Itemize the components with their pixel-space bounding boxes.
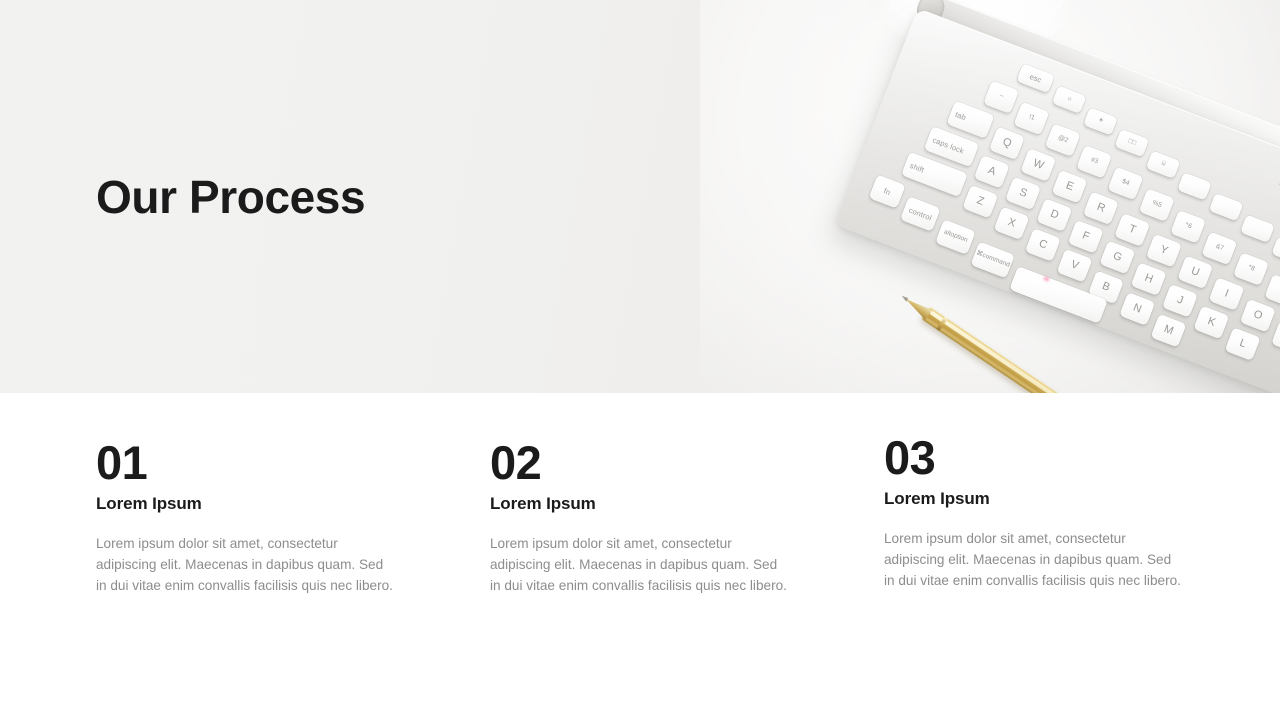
keyboard-key: C [1025,228,1061,262]
keyboard-key: J [1162,284,1198,318]
keyboard-key: F [1068,220,1104,254]
keyboard-key: S [1005,177,1041,211]
step-subtitle: Lorem Ipsum [490,494,820,514]
process-step-01: 01 Lorem Ipsum Lorem ipsum dolor sit ame… [96,439,426,596]
keyboard-key: H [1131,262,1167,296]
keyboard-key: Y [1146,234,1182,268]
keyboard-key: I [1208,277,1244,311]
keyboard-key: A [974,155,1010,189]
page-title: Our Process [96,172,365,224]
keyboard-key: altoption [935,219,976,255]
step-number: 01 [96,439,426,486]
keyboard-key: P [1271,321,1280,355]
keyboard-key: @2 [1045,123,1081,157]
keyboard-key [1209,193,1244,221]
keyboard-key: T [1114,213,1150,247]
keyboard-key: D [1036,198,1072,232]
keyboard-key: $4 [1107,167,1143,201]
keyboard-key: ⌸ [1146,151,1181,179]
keyboard-key: Z [962,185,998,219]
process-step-03: 03 Lorem Ipsum Lorem ipsum dolor sit ame… [884,434,1214,591]
keyboard-key [1271,236,1280,264]
step-body: Lorem ipsum dolor sit amet, consectetur … [884,529,1184,591]
keyboard-key: U [1177,256,1213,290]
keyboard-key: V [1057,249,1093,283]
step-subtitle: Lorem Ipsum [96,494,426,514]
keyboard-key: O [1240,299,1276,333]
keyboard-key [1009,266,1108,324]
keyboard-key: R [1083,191,1119,225]
keyboard-key: (9 [1264,274,1280,308]
keyboard-key: !1 [1013,102,1049,136]
keyboard-key: M [1150,314,1186,348]
keyboard-key: ⌘command [970,242,1014,279]
keyboard-key: K [1193,306,1229,340]
keyboard-key: X [994,206,1030,240]
step-subtitle: Lorem Ipsum [884,489,1214,509]
step-number: 03 [884,434,1214,481]
keyboard-key: □□ [1114,129,1149,157]
keyboard-key: control [900,196,941,232]
keyboard-key: G [1099,241,1135,275]
keyboard-key: N [1119,292,1155,326]
keyboard-key: *8 [1233,252,1269,286]
keyboard-key: W [1020,148,1056,182]
keyboard-key: %5 [1139,188,1175,222]
keyboard-key: ☼ [1052,86,1087,114]
keyboard-key: Q [989,126,1025,160]
keyboard-key [1240,215,1275,243]
keyboard-key: &7 [1201,232,1237,266]
process-steps: 01 Lorem Ipsum Lorem ipsum dolor sit ame… [0,393,1280,720]
keyboard-key: ~ [983,80,1019,114]
process-step-02: 02 Lorem Ipsum Lorem ipsum dolor sit ame… [490,439,820,596]
step-body: Lorem ipsum dolor sit amet, consectetur … [96,534,396,596]
slide-our-process: esc☼☀□□⌸~!1@2#3$4%5^6&7*8(9)0tabQWERTYUI… [0,0,1280,720]
keyboard-key: E [1052,170,1088,204]
keyboard-key [1177,172,1212,200]
keyboard-key: ^6 [1170,210,1206,244]
step-body: Lorem ipsum dolor sit amet, consectetur … [490,534,790,596]
keyboard-key: #3 [1076,145,1112,179]
keyboard-key: L [1225,327,1261,361]
keyboard-key: esc [1016,63,1055,93]
step-number: 02 [490,439,820,486]
keyboard-key: ☀ [1083,107,1118,135]
keyboard-key: fn [869,175,906,209]
